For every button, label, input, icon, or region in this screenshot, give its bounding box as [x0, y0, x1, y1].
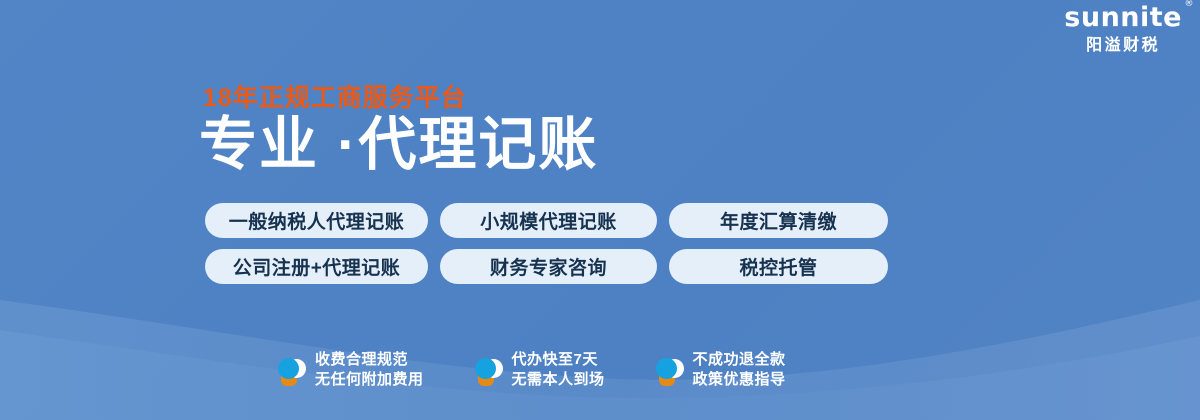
- sun-cup-icon: [654, 354, 684, 387]
- service-pill-company-registration-bookkeeping[interactable]: 公司注册+代理记账: [205, 249, 428, 284]
- feature-line-1: 收费合理规范: [315, 351, 408, 368]
- promo-banner: sunnite ® 阳溢财税 18年正规工商服务平台 专业 ·代理记账 一般纳税…: [0, 0, 1200, 420]
- service-pill-row: 一般纳税人代理记账 小规模代理记账 年度汇算清缴: [205, 203, 888, 238]
- feature-text-guarantee: 不成功退全款 政策优惠指导: [693, 350, 786, 390]
- feature-line-2: 无需本人到场: [512, 371, 605, 388]
- feature-line-2: 政策优惠指导: [693, 371, 786, 388]
- registered-trademark-icon: ®: [1185, 0, 1195, 9]
- service-pill-tax-control-hosting[interactable]: 税控托管: [669, 249, 888, 284]
- feature-item-guarantee: 不成功退全款 政策优惠指导: [654, 350, 786, 390]
- feature-strip: 收费合理规范 无任何附加费用 代办快至7天 无需本人到场 不成功退全款: [276, 350, 786, 390]
- logo-wordmark-text: sunnite: [1064, 2, 1182, 33]
- service-pill-grid: 一般纳税人代理记账 小规模代理记账 年度汇算清缴 公司注册+代理记账 财务专家咨…: [205, 203, 888, 295]
- service-pill-small-scale-bookkeeping[interactable]: 小规模代理记账: [440, 203, 657, 238]
- feature-line-1: 代办快至7天: [512, 351, 598, 368]
- page-title: 专业 ·代理记账: [199, 112, 598, 179]
- service-pill-row: 公司注册+代理记账 财务专家咨询 税控托管: [205, 249, 888, 284]
- hero-eyebrow: 18年正规工商服务平台: [203, 78, 467, 114]
- sun-cup-icon: [276, 354, 306, 387]
- feature-line-2: 无任何附加费用: [315, 371, 424, 388]
- feature-item-speed: 代办快至7天 无需本人到场: [473, 350, 605, 390]
- service-pill-finance-expert-consulting[interactable]: 财务专家咨询: [440, 249, 657, 284]
- feature-line-1: 不成功退全款: [693, 351, 786, 368]
- brand-logo[interactable]: sunnite ® 阳溢财税: [1064, 4, 1182, 54]
- logo-chinese-name: 阳溢财税: [1064, 38, 1182, 54]
- feature-item-pricing: 收费合理规范 无任何附加费用: [276, 350, 424, 390]
- service-pill-annual-settlement[interactable]: 年度汇算清缴: [669, 203, 888, 238]
- service-pill-general-taxpayer-bookkeeping[interactable]: 一般纳税人代理记账: [205, 203, 428, 238]
- feature-text-pricing: 收费合理规范 无任何附加费用: [315, 350, 424, 390]
- sun-cup-icon: [473, 354, 503, 387]
- logo-wordmark: sunnite ®: [1064, 4, 1182, 31]
- feature-text-speed: 代办快至7天 无需本人到场: [512, 350, 605, 390]
